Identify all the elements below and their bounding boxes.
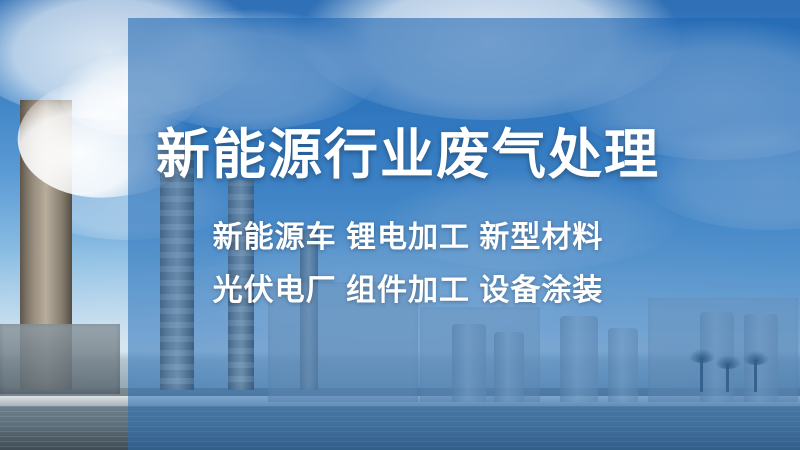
promo-banner: 新能源行业废气处理 新能源车 锂电加工 新型材料 光伏电厂 组件加工 设备涂装 [0,0,800,450]
banner-subline-1: 新能源车 锂电加工 新型材料 [213,215,604,262]
foreground-structure [0,324,120,394]
banner-subline-2: 光伏电厂 组件加工 设备涂装 [213,268,604,315]
banner-text-block: 新能源行业废气处理 新能源车 锂电加工 新型材料 光伏电厂 组件加工 设备涂装 [128,18,688,450]
banner-headline: 新能源行业废气处理 [156,126,660,185]
